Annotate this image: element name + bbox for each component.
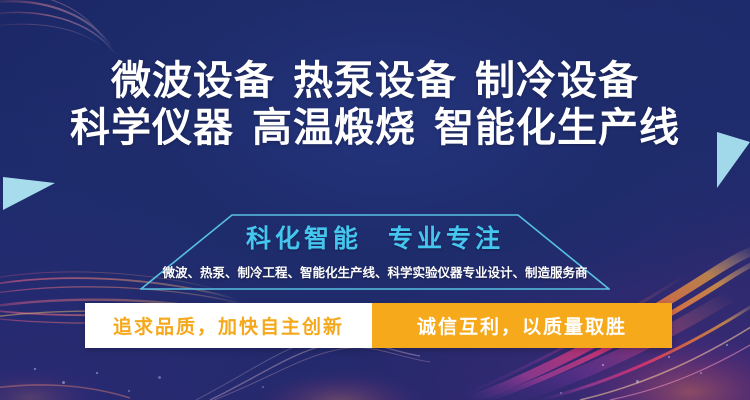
slogan-subtitle: 微波、热泵、制冷工程、智能化生产线、科学实验仪器专业设计、制造服务商 xyxy=(162,265,587,280)
sparkle-dot xyxy=(128,390,130,392)
sparkle-dot xyxy=(34,368,36,370)
promotional-banner: 微波设备热泵设备制冷设备 科学仪器高温煅烧智能化生产线 科化智能专业专注 微波、… xyxy=(0,0,750,400)
triangle-right-icon-left xyxy=(3,177,55,210)
sparkle-dot xyxy=(726,344,728,346)
ribbon-left-bar[interactable]: 追求品质，加快自主创新 xyxy=(85,303,372,348)
headline-item-6: 智能化生产线 xyxy=(434,105,680,151)
page-title: 微波设备热泵设备制冷设备 科学仪器高温煅烧智能化生产线 xyxy=(0,58,750,152)
headline-item-5: 高温煅烧 xyxy=(252,105,416,151)
ribbon-right-bar[interactable]: 诚信互利，以质量取胜 xyxy=(372,303,672,348)
sparkle-dot xyxy=(62,381,65,384)
sparkle-dot xyxy=(636,380,639,383)
slogan-left: 科化智能 xyxy=(246,219,362,255)
sparkle-dot xyxy=(560,392,562,394)
sparkle-dot xyxy=(96,372,98,374)
sparkle-dot xyxy=(700,372,702,374)
ribbon-left-label: 追求品质，加快自主创新 xyxy=(113,312,344,339)
headline-item-2: 热泵设备 xyxy=(293,58,457,104)
slogan-subtitle-row: 微波、热泵、制冷工程、智能化生产线、科学实验仪器专业设计、制造服务商 xyxy=(0,262,750,281)
slogan-right: 专业专注 xyxy=(388,219,504,255)
sparkle-dot xyxy=(262,386,264,388)
sparkle-dot xyxy=(668,356,670,358)
slogan-row: 科化智能专业专注 xyxy=(0,219,750,255)
headline-item-4: 科学仪器 xyxy=(70,105,234,151)
sparkle-dot xyxy=(602,364,604,366)
sparkle-dot xyxy=(158,376,161,379)
ribbon-right-label: 诚信互利，以质量取胜 xyxy=(417,312,627,339)
headline-item-1: 微波设备 xyxy=(111,58,275,104)
headline-item-3: 制冷设备 xyxy=(475,58,639,104)
slogan-ribbon: 追求品质，加快自主创新 诚信互利，以质量取胜 xyxy=(85,303,672,348)
